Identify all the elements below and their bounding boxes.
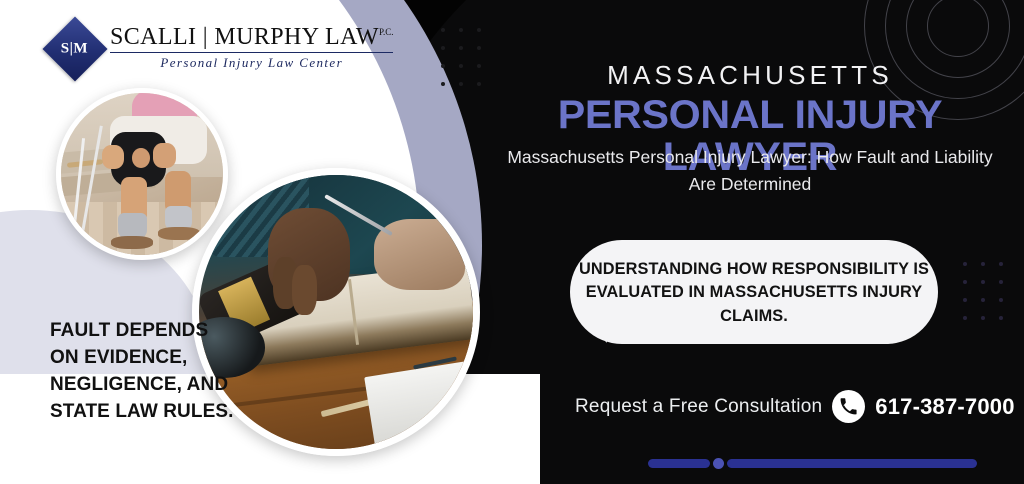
subheadline: Massachusetts Personal Injury Lawyer: Ho… — [505, 144, 995, 198]
cta-row[interactable]: Request a Free Consultation 617-387-7000 — [575, 390, 1015, 423]
monogram-text: S|M — [61, 41, 88, 58]
brand-logo[interactable]: S|M SCALLI | MURPHY LAWP.C. Personal Inj… — [52, 22, 393, 72]
dot-grid-left-icon — [441, 28, 495, 100]
progress-handle[interactable] — [713, 458, 724, 469]
dot-grid-right-icon — [963, 262, 1017, 334]
progress-segment-filled[interactable] — [648, 459, 710, 468]
progress-bar[interactable] — [648, 458, 977, 469]
diamond-monogram-icon: S|M — [42, 16, 107, 81]
eyebrow-text: MASSACHUSETTS — [500, 60, 1000, 91]
cta-phone-number[interactable]: 617-387-7000 — [875, 394, 1014, 420]
logo-text-block: SCALLI | MURPHY LAWP.C. Personal Injury … — [110, 22, 393, 71]
brand-name: SCALLI | MURPHY LAWP.C. — [110, 25, 393, 50]
banner: S|M SCALLI | MURPHY LAWP.C. Personal Inj… — [0, 0, 1024, 484]
speech-bubble: UNDERSTANDING HOW RESPONSIBILITY IS EVAL… — [570, 240, 938, 344]
phone-icon — [832, 390, 865, 423]
logo-divider — [110, 52, 393, 53]
brand-tagline: Personal Injury Law Center — [110, 55, 393, 71]
brand-suffix: P.C. — [379, 27, 394, 37]
left-headline: FAULT DEPENDS ON EVIDENCE, NEGLIGENCE, A… — [50, 318, 240, 426]
speech-bubble-text: UNDERSTANDING HOW RESPONSIBILITY IS EVAL… — [577, 257, 930, 327]
cta-label: Request a Free Consultation — [575, 396, 822, 418]
progress-segment-track[interactable] — [727, 459, 977, 468]
